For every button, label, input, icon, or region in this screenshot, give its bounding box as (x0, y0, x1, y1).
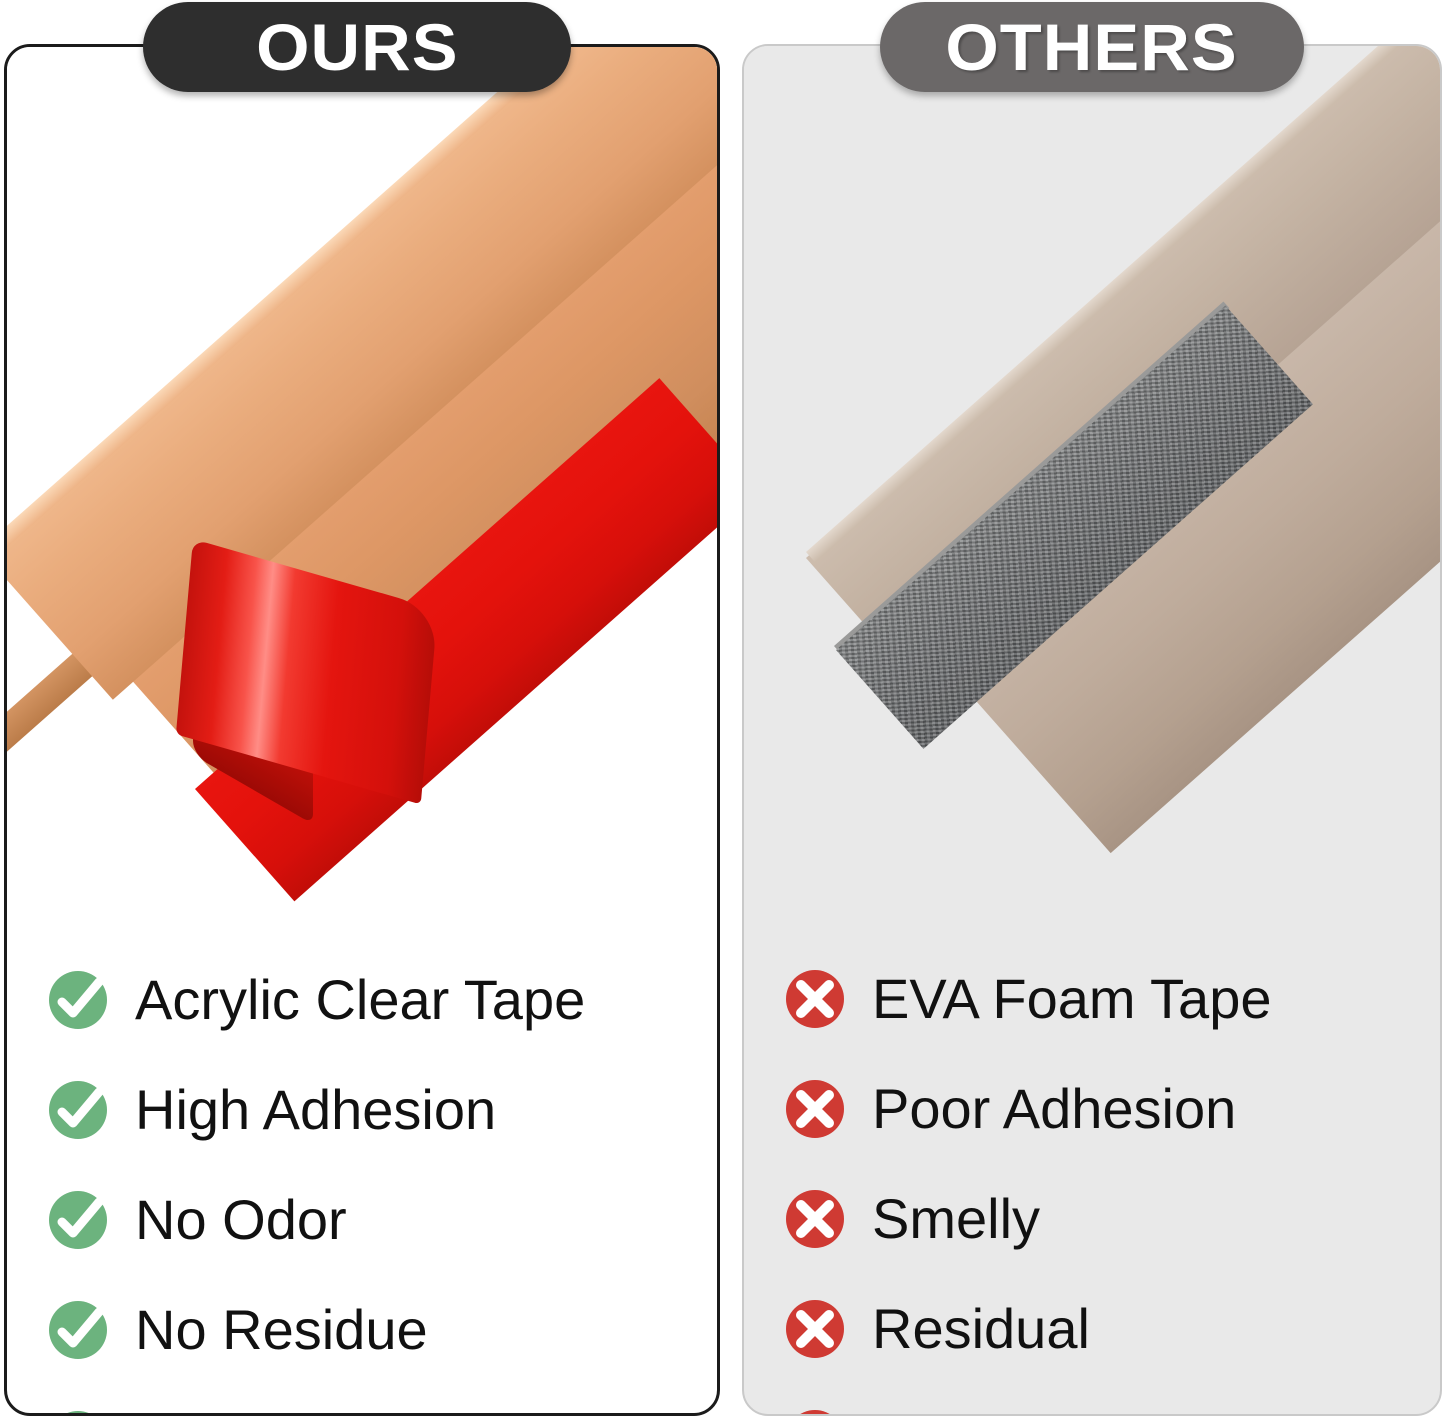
ours-badge-label: OURS (256, 14, 458, 80)
others-feature-list: EVA Foam Tape Poor Adhesion (744, 926, 1440, 1414)
list-item-label: Poor Adhesion (872, 1081, 1236, 1137)
list-item-label: Residual (872, 1301, 1090, 1357)
list-item-label: No Residue (135, 1302, 428, 1358)
ours-panel: Acrylic Clear Tape High Adhesion (4, 44, 720, 1416)
others-product-photo (744, 46, 1440, 916)
list-item-label: Hard to Delaminate (135, 1412, 617, 1416)
list-item: Acrylic Clear Tape (47, 945, 717, 1055)
others-panel: EVA Foam Tape Poor Adhesion (742, 44, 1442, 1416)
list-item: Poor Adhesion (784, 1054, 1440, 1164)
x-circle-icon (784, 1408, 846, 1416)
list-item: Smelly (784, 1164, 1440, 1274)
x-circle-icon (784, 1298, 846, 1360)
list-item-label: Easy to Delaminate (872, 1411, 1358, 1416)
check-circle-icon (47, 1299, 109, 1361)
ours-product-photo (7, 47, 717, 917)
list-item: Hard to Delaminate (47, 1385, 717, 1416)
check-circle-icon (47, 1409, 109, 1416)
list-item: High Adhesion (47, 1055, 717, 1165)
others-badge: OTHERS (880, 2, 1304, 92)
check-circle-icon (47, 969, 109, 1031)
x-circle-icon (784, 968, 846, 1030)
x-circle-icon (784, 1188, 846, 1250)
list-item-label: High Adhesion (135, 1082, 496, 1138)
list-item: Easy to Delaminate (784, 1384, 1440, 1416)
list-item-label: Smelly (872, 1191, 1040, 1247)
list-item-label: No Odor (135, 1192, 347, 1248)
list-item-label: Acrylic Clear Tape (135, 972, 585, 1028)
ours-feature-list: Acrylic Clear Tape High Adhesion (7, 927, 717, 1413)
list-item: No Residue (47, 1275, 717, 1385)
list-item: Residual (784, 1274, 1440, 1384)
list-item: EVA Foam Tape (784, 944, 1440, 1054)
comparison-infographic: Acrylic Clear Tape High Adhesion (0, 0, 1445, 1426)
others-badge-label: OTHERS (946, 14, 1238, 80)
check-circle-icon (47, 1079, 109, 1141)
x-circle-icon (784, 1078, 846, 1140)
list-item-label: EVA Foam Tape (872, 971, 1272, 1027)
ours-badge: OURS (143, 2, 571, 92)
check-circle-icon (47, 1189, 109, 1251)
list-item: No Odor (47, 1165, 717, 1275)
